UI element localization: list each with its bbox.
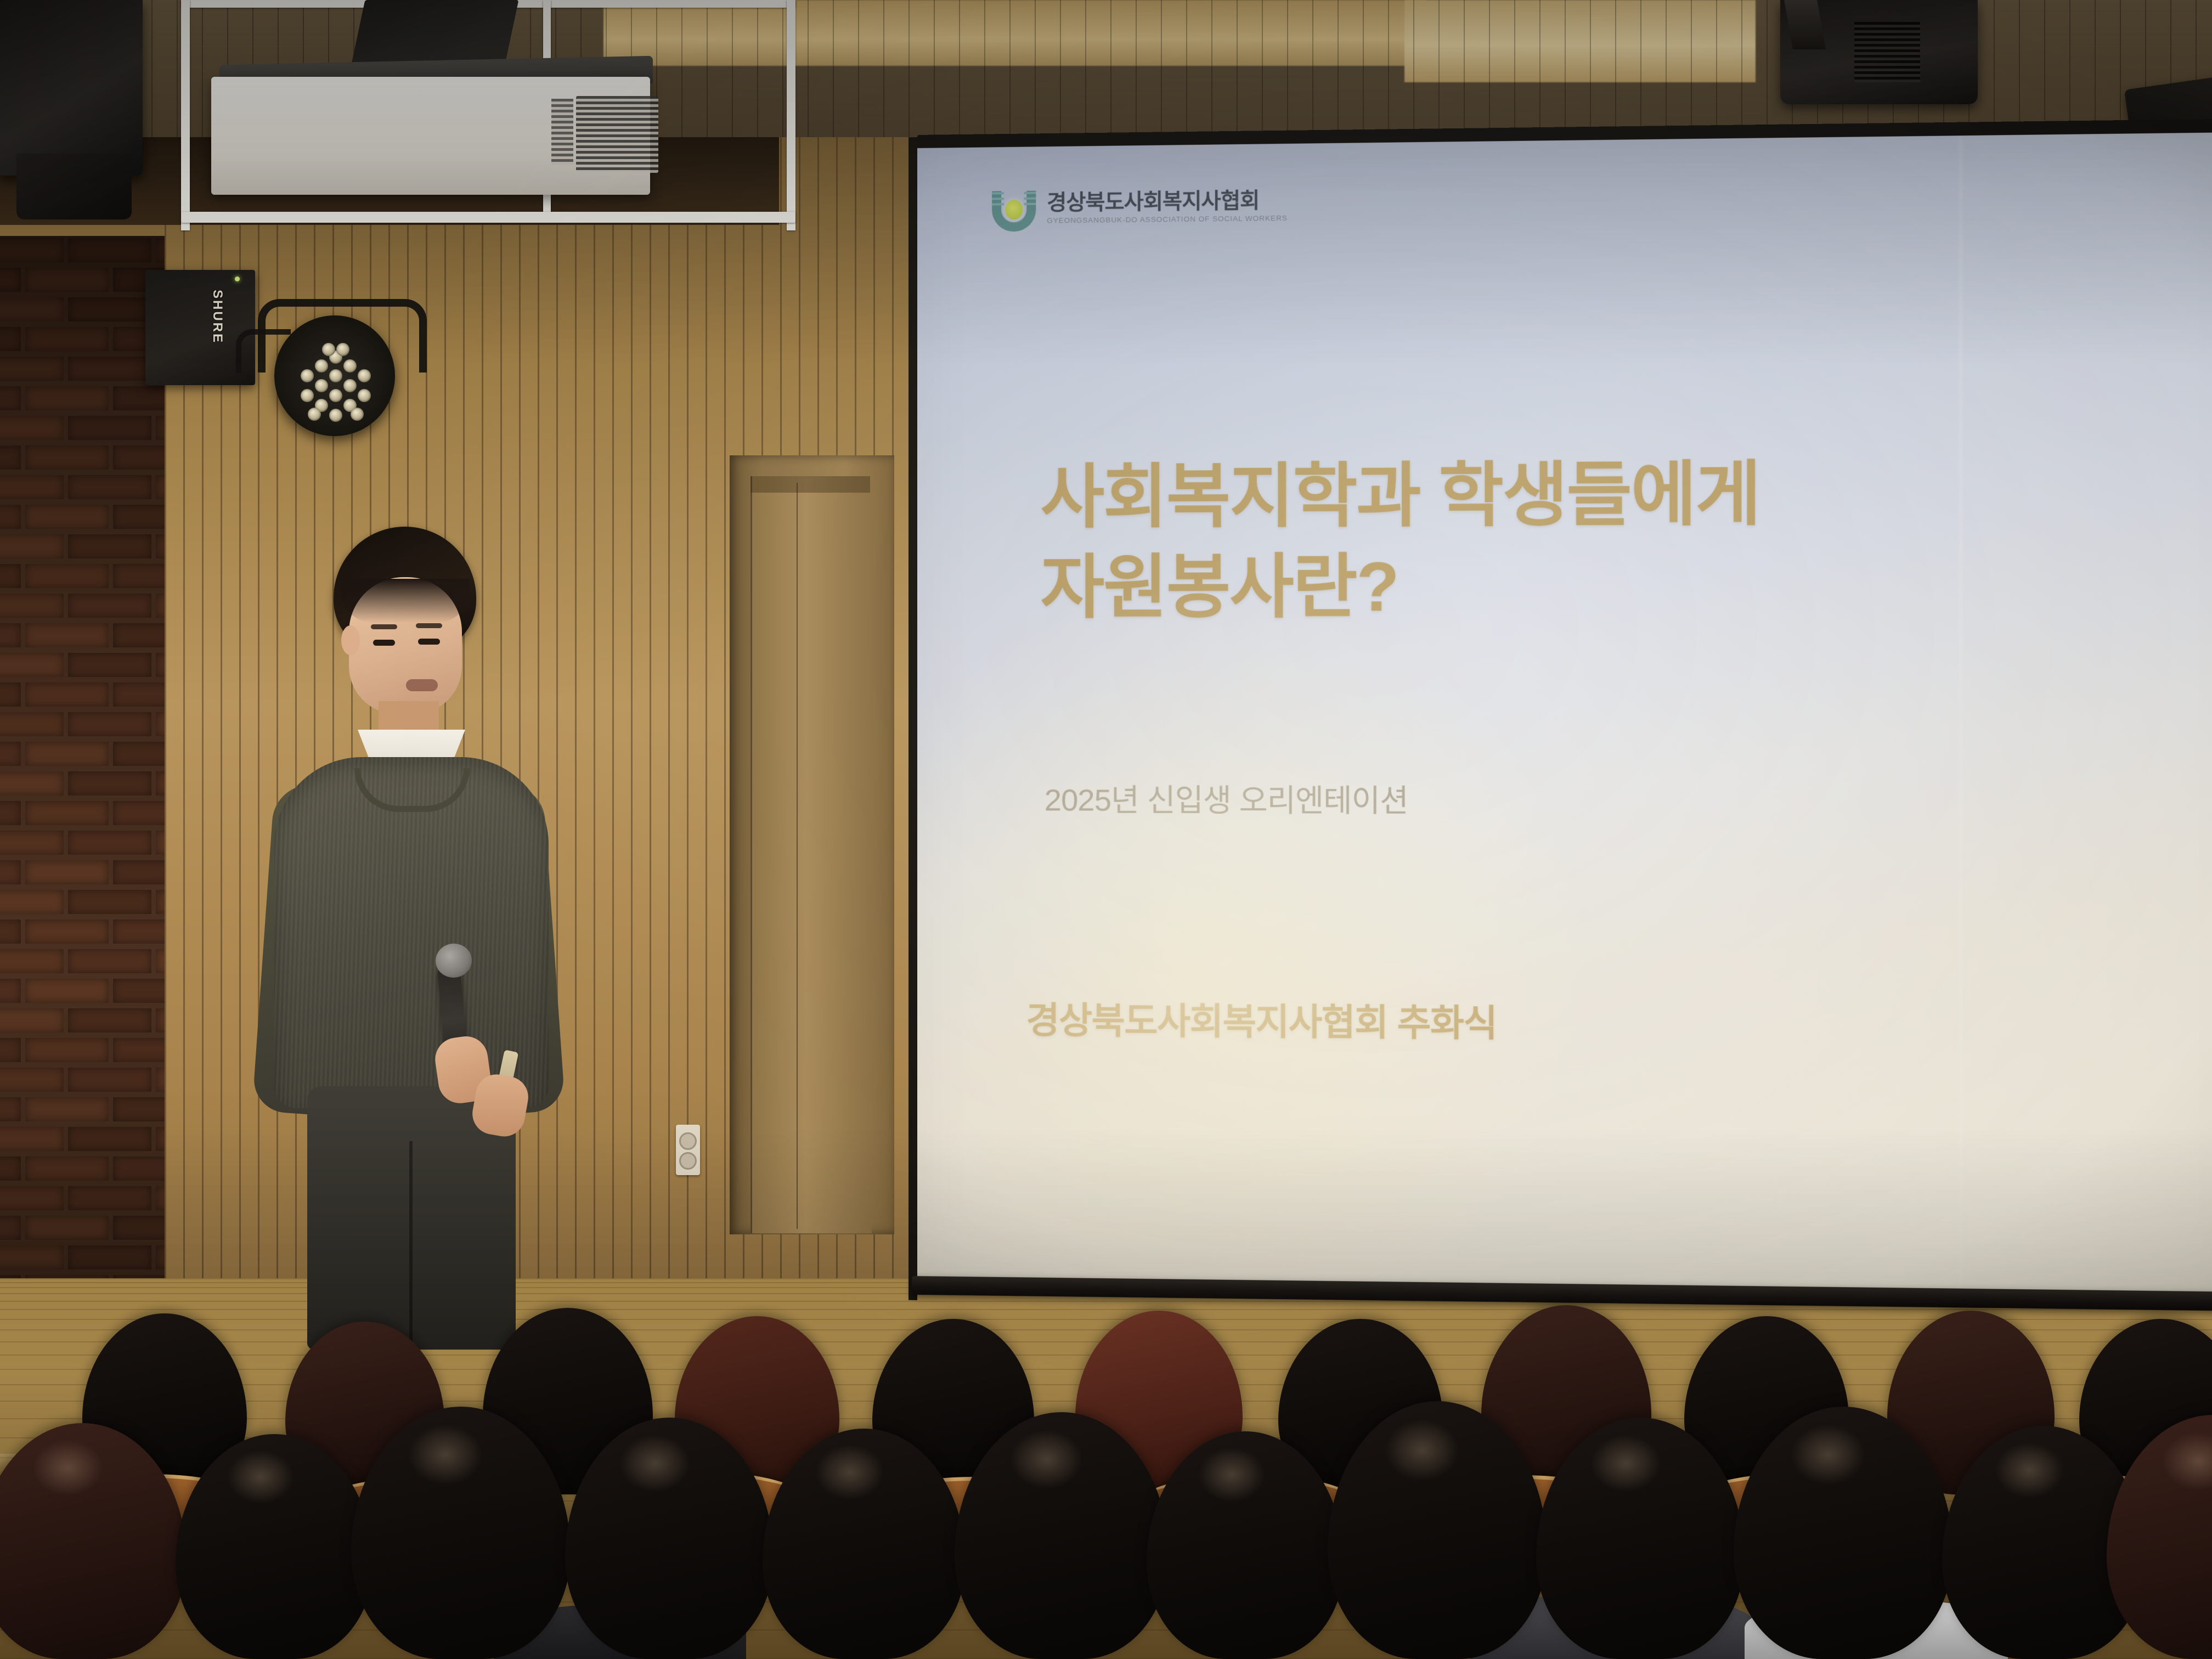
presentation-slide: 경상북도사회복지사협회 GYEONGSANGBUK-DO ASSOCIATION… <box>917 132 2212 1294</box>
brick-wall <box>0 236 165 1443</box>
brick-wall-shading <box>0 236 165 1443</box>
cage-bar-bottom <box>181 212 795 223</box>
logo-tick-6 <box>1024 203 1036 205</box>
screen-vignette <box>917 132 2212 1294</box>
par-lens <box>336 343 349 356</box>
shure-brand-label: SHURE <box>214 290 225 369</box>
par-lens <box>351 408 364 421</box>
projector-vent <box>576 96 658 173</box>
cage-bar-right <box>787 0 795 230</box>
par-lens <box>315 359 328 373</box>
ceiling-truss-lower <box>16 154 132 219</box>
slide-title: 사회복지학과 학생들에게 자원봉사란? <box>1041 447 2077 633</box>
par-lens <box>343 379 357 392</box>
par-light-lens-array <box>301 343 372 414</box>
par-lens <box>315 379 328 392</box>
hair-highlight <box>227 1450 294 1504</box>
presenter-brow-right <box>416 623 442 628</box>
par-lens <box>343 359 357 373</box>
hair-highlight <box>1995 1442 2064 1498</box>
par-lens <box>301 369 314 382</box>
auditorium-scene: SHURE 경상북도사회복지사협회 <box>0 0 2212 1659</box>
outlet-socket-bottom <box>679 1152 697 1170</box>
hair-highlight <box>1791 1424 1865 1485</box>
logo-korean-name: 경상북도사회복지사협회 <box>1047 189 1288 215</box>
shure-power-led-icon <box>235 276 240 281</box>
door-panel-seam <box>797 483 798 1229</box>
wall-slat <box>706 137 707 1289</box>
par-lens <box>358 389 371 402</box>
hair-highlight <box>1385 1419 1459 1481</box>
logo-tick-5 <box>1024 198 1036 200</box>
projector-hotspot <box>917 575 1600 1294</box>
wall-slat <box>687 137 689 1289</box>
ceiling-truss <box>0 0 143 176</box>
slide-footer-event: 경상북도사회복지사협회 추화식 <box>1026 991 1497 1047</box>
wall-slat <box>631 137 633 1289</box>
screen-fabric-seam <box>1960 136 1962 1291</box>
cage-bar-left <box>181 0 190 230</box>
presenter-ear <box>341 625 360 655</box>
stage-door[interactable] <box>751 476 872 1233</box>
presenter-hair-fringe <box>340 579 470 623</box>
slide-title-line-1: 사회복지학과 학생들에게 <box>1041 447 2077 543</box>
logo-tick-1 <box>992 192 1004 194</box>
wall-outlet <box>676 1125 700 1175</box>
logo-mark-icon <box>989 183 1039 234</box>
par-lens <box>358 369 371 382</box>
presenter-brow-left <box>371 624 397 629</box>
presenter-mouth <box>406 679 438 691</box>
hair-highlight <box>1010 1430 1083 1489</box>
association-logo: 경상북도사회복지사협회 GYEONGSANGBUK-DO ASSOCIATION… <box>989 180 1288 234</box>
logo-tick-2 <box>992 198 1004 200</box>
wall-slat <box>650 137 651 1289</box>
logo-tick-4 <box>1024 192 1036 194</box>
logo-tick-3 <box>992 203 1004 205</box>
presenter-eye-right <box>418 639 440 645</box>
outlet-socket-top <box>679 1132 697 1150</box>
audience-seating <box>0 1284 2212 1659</box>
projection-screen: 경상북도사회복지사협회 GYEONGSANGBUK-DO ASSOCIATION… <box>917 132 2212 1294</box>
logo-english-name: GYEONGSANGBUK-DO ASSOCIATION OF SOCIAL W… <box>1047 213 1288 224</box>
par-lens <box>329 389 342 402</box>
door-header-trim <box>751 476 870 493</box>
projector-vent-side <box>551 99 573 165</box>
screen-left-edge <box>909 137 917 1300</box>
hair-highlight <box>408 1424 483 1485</box>
hair-highlight <box>619 1435 690 1493</box>
hair-highlight <box>1198 1447 1265 1502</box>
par-lens <box>301 389 314 402</box>
par-lens <box>329 409 342 422</box>
slide-subtitle: 2025년 신입생 오리엔테이션 <box>1045 776 1408 821</box>
wall-slat <box>612 137 614 1289</box>
wall-slat <box>724 137 726 1289</box>
ceiling-cove-light-right <box>1404 0 1756 82</box>
slide-title-line-2: 자원봉사란? <box>1041 539 2077 633</box>
logo-seed-dot-icon <box>1005 200 1023 219</box>
wall-slat <box>594 137 595 1289</box>
stage-light-vent <box>1854 22 1920 82</box>
hair-highlight <box>2162 1432 2212 1491</box>
par-lens <box>329 369 342 382</box>
hair-highlight <box>32 1440 103 1496</box>
par-lens <box>308 408 321 421</box>
hair-highlight <box>1590 1435 1661 1493</box>
presenter-eye-left <box>373 640 395 646</box>
wall-slat <box>668 137 670 1289</box>
par-lens <box>322 343 335 356</box>
hair-highlight <box>815 1444 884 1500</box>
presenter <box>241 527 582 1350</box>
